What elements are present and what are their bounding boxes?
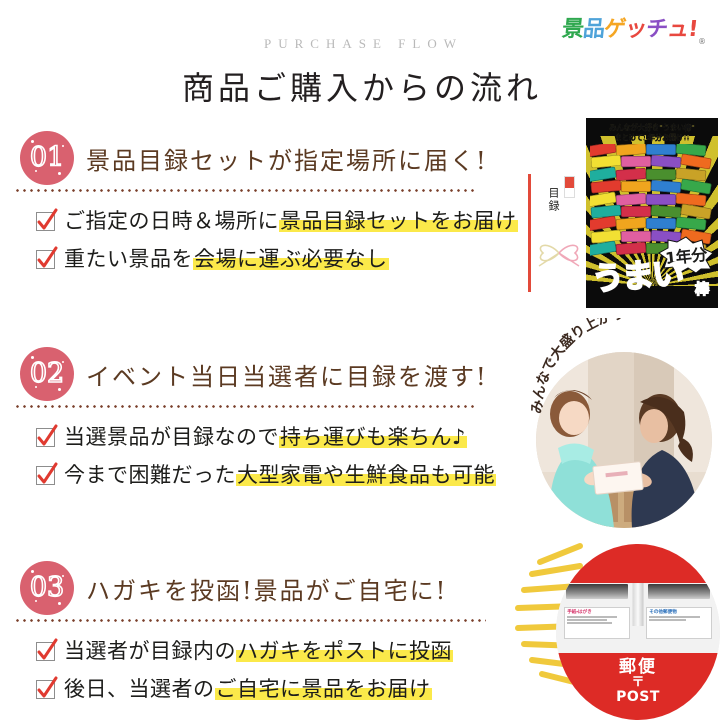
postbox-center-divider <box>633 583 644 627</box>
postbox-illustration: 手紙・はがき その他郵便物 郵便 〒 POST <box>484 538 720 720</box>
snack-pack <box>621 181 651 192</box>
snack-pack <box>651 155 682 168</box>
snack-pack <box>621 156 651 167</box>
checkbox-checked-icon <box>36 466 55 485</box>
snack-pack <box>590 241 617 256</box>
snack-pack <box>680 179 711 195</box>
postbox-jp-label: 郵便 <box>556 659 720 676</box>
photo-caption-text: みんなで大盛り上がり! <box>529 318 632 414</box>
step-number-badge: 02 <box>20 347 74 401</box>
page-title: 商品ご購入からの流れ <box>0 63 720 109</box>
snack-pack <box>616 217 647 230</box>
poster-headline: みんなが大好き"うまい棒"まとめて1年分お届け!! <box>586 123 718 142</box>
bullet-text-pre: 当選者が目録内の <box>64 641 236 662</box>
snack-pack <box>616 168 647 181</box>
snack-pack <box>651 180 682 193</box>
snack-pack <box>616 192 647 205</box>
snack-pack <box>621 206 651 217</box>
snack-pack <box>646 193 676 204</box>
bullet-text-pre: 今まで困難だった <box>64 465 236 486</box>
postbox: 手紙・はがき その他郵便物 郵便 〒 POST <box>556 544 720 720</box>
snack-pack <box>646 144 676 155</box>
snack-pack <box>591 180 622 194</box>
bullet-text-highlight: ご自宅に景品をお届け <box>215 679 432 700</box>
catalog-and-poster-illustration: 目録 みんなが大好き"うまい棒"まとめて1年分お届け!! 1年分 うまい 棒 <box>528 118 720 313</box>
mail-slot-left <box>566 584 628 599</box>
slot-plate-right: その他郵便物 <box>646 607 712 639</box>
step-number: 01 <box>30 144 64 171</box>
checkbox-checked-icon <box>36 642 55 661</box>
step-title: ハガキを投函!景品がご自宅に! <box>86 571 447 606</box>
checkbox-checked-icon <box>36 428 55 447</box>
catalog-envelope: 目録 <box>528 174 584 292</box>
snack-pack <box>676 217 707 231</box>
photo-caption: みんなで大盛り上がり! <box>528 318 720 428</box>
step-number-badge: 03 <box>20 561 74 615</box>
postbox-en-label: POST <box>556 690 720 704</box>
mail-slot-right <box>648 584 710 599</box>
bullet-text-pre: 後日、当選者の <box>64 679 215 700</box>
snack-pack <box>616 242 647 255</box>
bullet-text-pre: 重たい景品を <box>64 249 193 270</box>
bullet-text-highlight: 会場に運ぶ必要なし <box>193 249 389 270</box>
postbox-top <box>556 544 720 583</box>
bullet-text-highlight: ハガキをポストに投函 <box>236 641 453 662</box>
umaibo-poster: みんなが大好き"うまい棒"まとめて1年分お届け!! 1年分 うまい 棒 <box>586 118 718 308</box>
step-title: 景品目録セットが指定場所に届く! <box>86 141 488 176</box>
snack-pack <box>646 218 676 229</box>
step-number: 02 <box>30 360 64 387</box>
mizuhiki-bow-icon <box>533 236 585 270</box>
postbox-body: 手紙・はがき その他郵便物 <box>556 583 720 653</box>
poster-main-text: うまい <box>591 257 683 295</box>
step-title: イベント当日当選者に目録を渡す! <box>86 357 488 392</box>
bullet-text-pre: ご指定の日時＆場所に <box>64 211 279 232</box>
snack-pack <box>591 155 622 169</box>
dotted-divider <box>14 189 476 192</box>
envelope-label: 目録 <box>545 187 561 213</box>
checkbox-checked-icon <box>36 680 55 699</box>
eyebrow-label: PURCHASE FLOW <box>0 36 720 52</box>
checkbox-checked-icon <box>36 212 55 231</box>
bullet-text-highlight: 景品目録セットをお届け <box>279 211 518 232</box>
checkbox-checked-icon <box>36 250 55 269</box>
snack-pack <box>646 169 676 180</box>
step-number-badge: 01 <box>20 131 74 185</box>
event-photo-illustration: みんなで大盛り上がり! <box>528 318 720 533</box>
slot-plate-left: 手紙・はがき <box>564 607 630 639</box>
step-number: 03 <box>30 574 64 601</box>
dotted-divider <box>14 405 476 408</box>
snack-pack <box>616 144 647 156</box>
poster-sub-text: 棒 <box>695 279 709 299</box>
bullet-text-highlight: 持ち運びも楽ちん♪ <box>279 427 467 448</box>
noshi-seal-icon <box>564 176 575 198</box>
snack-pack <box>621 231 651 242</box>
bullet-text-pre: 当選景品が目録なので <box>64 427 279 448</box>
snack-pack <box>676 192 707 206</box>
dotted-divider <box>14 619 486 622</box>
infographic-page: 景品ゲッチュ! ® PURCHASE FLOW 商品ご購入からの流れ 01 景品… <box>0 0 720 720</box>
postbox-label: 郵便 〒 POST <box>556 659 720 704</box>
postal-mark-icon: 〒 <box>556 676 720 690</box>
bullet-text-highlight: 大型家電や生鮮食品も可能 <box>236 465 496 486</box>
